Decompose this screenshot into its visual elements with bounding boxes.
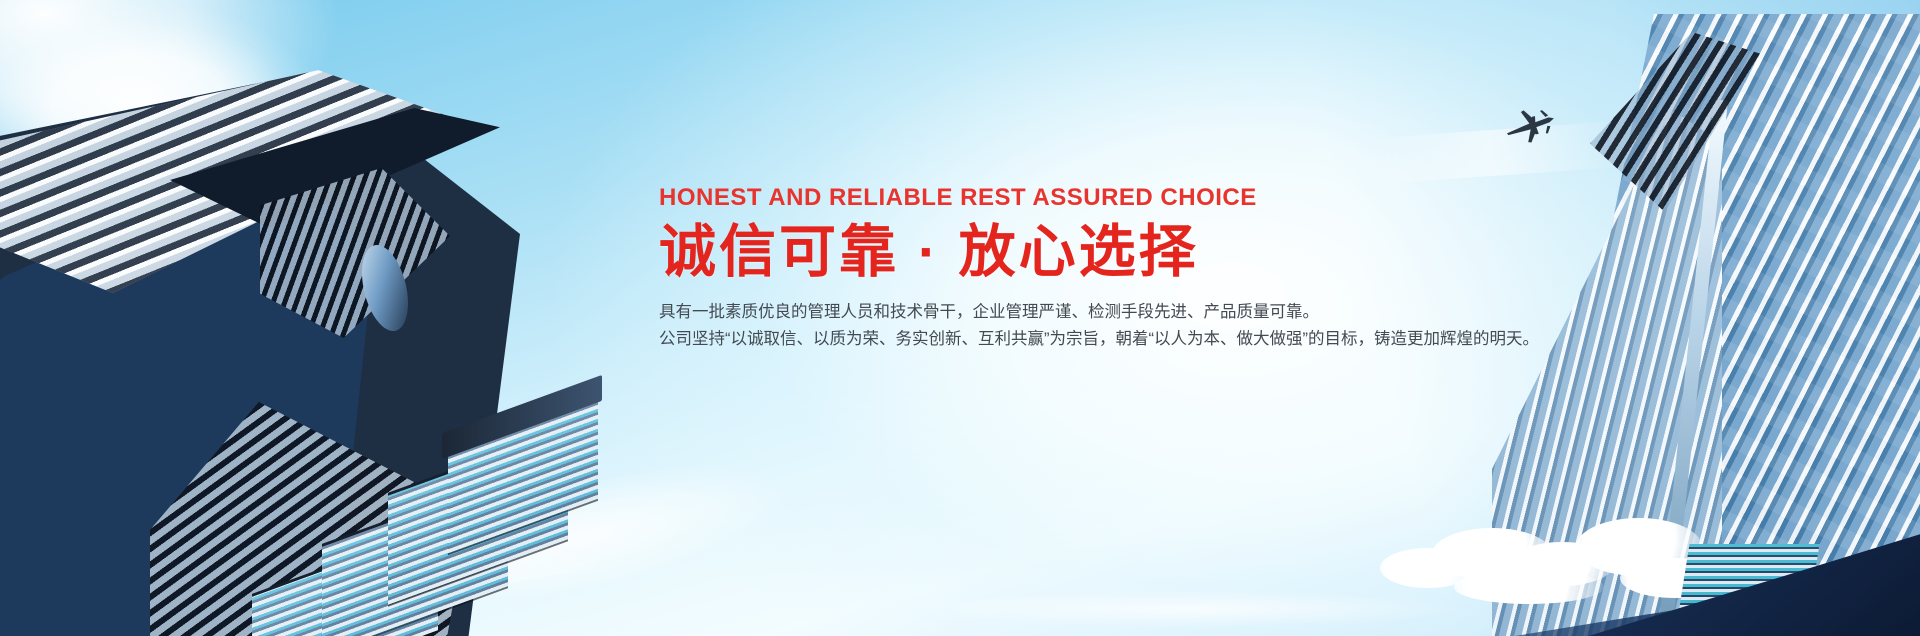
page-title: 诚信可靠 · 放心选择 — [659, 223, 1379, 283]
stepped-office-tower — [236, 398, 596, 636]
description-block: 具有一批素质优良的管理人员和技术骨干，企业管理严谨、检测手段先进、产品质量可靠。… — [659, 299, 1379, 352]
banner-copy-block: HONEST AND RELIABLE REST ASSURED CHOICE … — [659, 186, 1379, 352]
english-tagline: HONEST AND RELIABLE REST ASSURED CHOICE — [659, 186, 1379, 210]
description-line-1: 具有一批素质优良的管理人员和技术骨干，企业管理严谨、检测手段先进、产品质量可靠。 — [659, 299, 1379, 326]
hero-banner: HONEST AND RELIABLE REST ASSURED CHOICE … — [0, 0, 1920, 636]
right-skyscraper-foreground — [1520, 14, 1920, 636]
description-line-2: 公司坚持“以诚取信、以质为荣、务实创新、互利共赢”为宗旨，朝着“以人为本、做大做… — [659, 326, 1379, 353]
